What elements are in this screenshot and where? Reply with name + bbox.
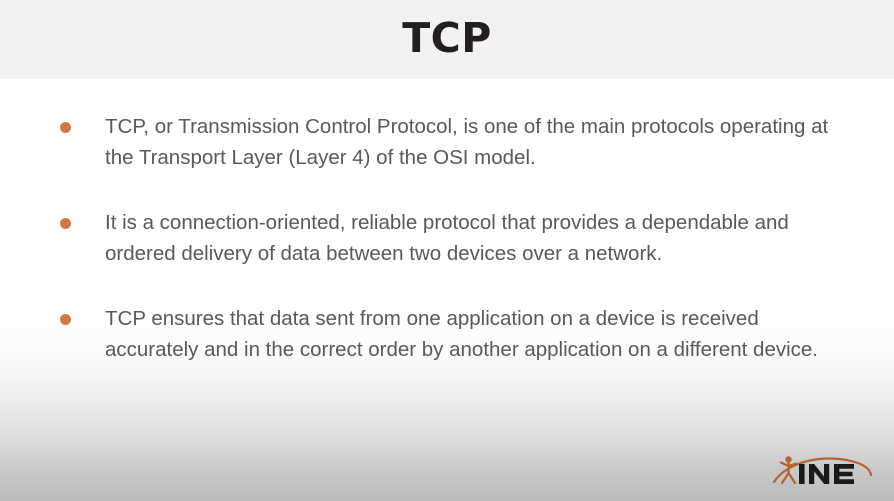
bullet-dot-wrapper (60, 303, 105, 325)
page-title: TCP (402, 18, 492, 59)
slide: TCP TCP, or Transmission Control Protoco… (0, 0, 894, 501)
bullet-text: TCP, or Transmission Control Protocol, i… (105, 111, 829, 173)
bullet-dot-icon (60, 314, 71, 325)
list-item: TCP, or Transmission Control Protocol, i… (60, 111, 850, 173)
slide-body: TCP, or Transmission Control Protocol, i… (0, 79, 894, 501)
logo-person-icon (781, 456, 796, 483)
bullet-list: TCP, or Transmission Control Protocol, i… (60, 111, 850, 365)
logo-wordmark (799, 464, 854, 484)
bullet-dot-wrapper (60, 111, 105, 133)
bullet-dot-icon (60, 218, 71, 229)
list-item: TCP ensures that data sent from one appl… (60, 303, 850, 365)
slide-title-band: TCP (0, 0, 894, 79)
list-item: It is a connection-oriented, reliable pr… (60, 207, 850, 269)
bullet-dot-icon (60, 122, 71, 133)
bullet-text: TCP ensures that data sent from one appl… (105, 303, 829, 365)
ine-logo (766, 449, 876, 491)
bullet-dot-wrapper (60, 207, 105, 229)
bullet-text: It is a connection-oriented, reliable pr… (105, 207, 829, 269)
